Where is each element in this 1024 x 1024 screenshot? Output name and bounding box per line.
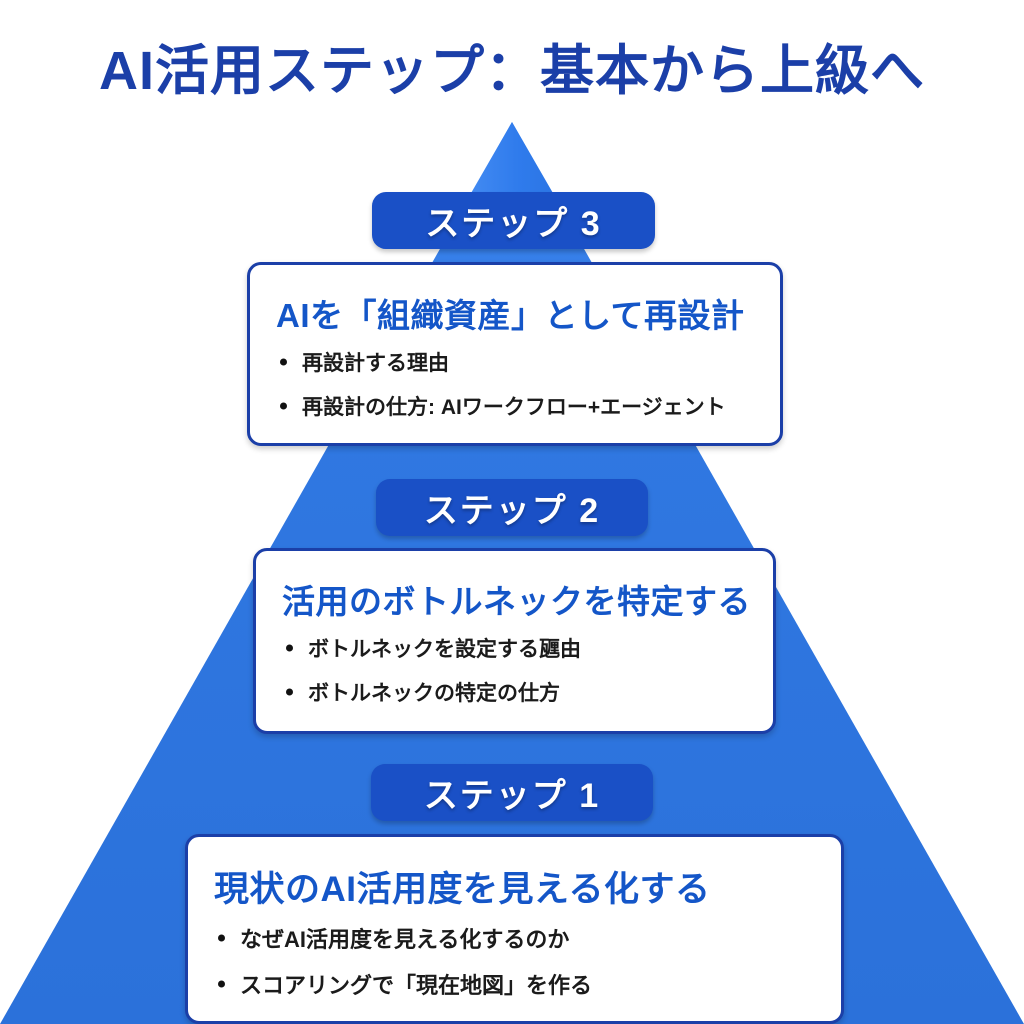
bullet-dot-icon — [280, 403, 287, 410]
step-3-bullet-list: 再設計する理由 再設計の仕方: AIワークフロー+エージェント — [276, 347, 754, 421]
step-2-bullet-2: ボトルネックの特定の仕方 — [308, 682, 560, 705]
bullet-dot-icon — [218, 935, 225, 942]
list-item: ボトルネックを設定する甅由 — [282, 633, 747, 663]
step-3-badge-label: ステップ 3 — [425, 196, 601, 245]
step-1-heading: 現状のAI活用度を見える化する — [214, 861, 815, 912]
step-1-badge-label: ステップ 1 — [424, 768, 600, 817]
step-3-bullet-1: 再設計する理由 — [302, 352, 449, 375]
step-2-bullet-1: ボトルネックを設定する甅由 — [308, 638, 581, 661]
step-1-bullet-2: スコアリングで「現在地図」を作る — [240, 973, 592, 998]
bullet-dot-icon — [280, 359, 287, 366]
page-title: AI活用ステップ：基本から上級へ — [0, 40, 1024, 102]
step-1-card[interactable]: 現状のAI活用度を見える化する なぜAI活用度を見える化するのか スコアリングで… — [185, 834, 844, 1024]
step-3-bullet-2: 再設計の仕方: AIワークフロー+エージェント — [302, 396, 726, 419]
list-item: スコアリングで「現在地図」を作る — [214, 968, 815, 1000]
step-2-bullet-list: ボトルネックを設定する甅由 ボトルネックの特定の仕方 — [282, 633, 747, 707]
bullet-dot-icon — [218, 981, 225, 988]
list-item: ボトルネックの特定の仕方 — [282, 677, 747, 707]
step-2-heading: 活用のボトルネックを特定する — [282, 575, 747, 623]
step-1-bullet-list: なぜAI活用度を見える化するのか スコアリングで「現在地図」を作る — [214, 922, 815, 1000]
bullet-dot-icon — [286, 645, 293, 652]
step-3-heading: AIを「組織資産」として再設計 — [276, 289, 754, 337]
list-item: なぜAI活用度を見える化するのか — [214, 922, 815, 954]
step-2-card[interactable]: 活用のボトルネックを特定する ボトルネックを設定する甅由 ボトルネックの特定の仕… — [253, 548, 776, 734]
slide-canvas: AI活用ステップ：基本から上級へ ステップ 3 AIを「組織資産」として再設計 — [0, 0, 1024, 1024]
step-3-badge[interactable]: ステップ 3 — [372, 192, 655, 249]
step-1-badge[interactable]: ステップ 1 — [371, 764, 653, 821]
step-3-card[interactable]: AIを「組織資産」として再設計 再設計する理由 再設計の仕方: AIワークフロー… — [247, 262, 783, 446]
step-1-bullet-1: なぜAI活用度を見える化するのか — [240, 927, 569, 952]
step-2-badge[interactable]: ステップ 2 — [376, 479, 648, 536]
step-2-badge-label: ステップ 2 — [424, 483, 600, 532]
list-item: 再設計の仕方: AIワークフロー+エージェント — [276, 391, 754, 421]
list-item: 再設計する理由 — [276, 347, 754, 377]
bullet-dot-icon — [286, 689, 293, 696]
